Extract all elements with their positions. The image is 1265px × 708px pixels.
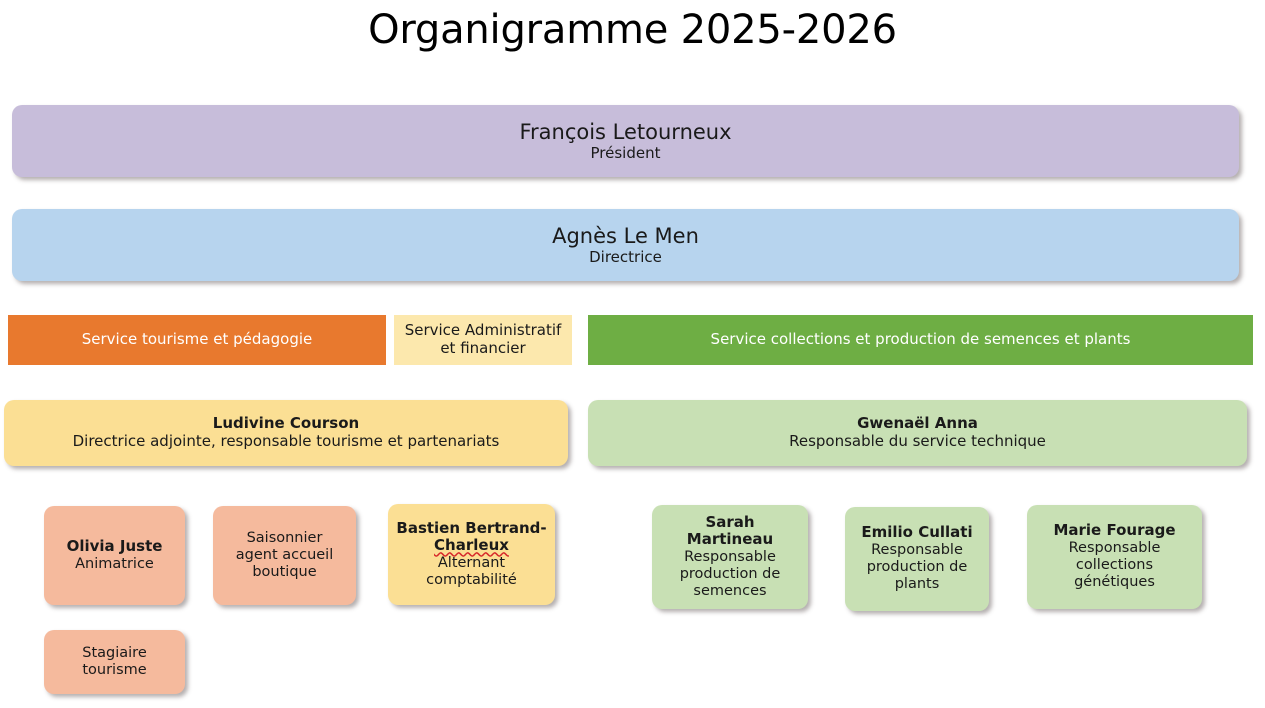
sarah-martineau-role: Responsable production de semences	[680, 549, 781, 600]
org-node-gwenael-anna[interactable]: Gwenaël Anna Responsable du service tech…	[588, 400, 1247, 466]
stagiaire-tourisme-role: Stagiaire tourisme	[82, 645, 147, 679]
org-node-marie-fourage[interactable]: Marie Fourage Responsable collections gé…	[1027, 505, 1202, 609]
marie-fourage-role: Responsable collections génétiques	[1069, 540, 1161, 591]
service-banner-collections[interactable]: Service collections et production de sem…	[588, 315, 1253, 365]
page-title: Organigramme 2025-2026	[0, 6, 1265, 54]
org-node-bastien-bertrand-charleux[interactable]: Bastien Bertrand-Charleux Alternant comp…	[388, 504, 555, 605]
bastien-name-line2: Charleux	[434, 536, 509, 554]
org-node-stagiaire-tourisme[interactable]: Stagiaire tourisme	[44, 630, 185, 694]
org-node-emilio-cullati[interactable]: Emilio Cullati Responsable production de…	[845, 507, 989, 611]
org-node-olivia-juste[interactable]: Olivia Juste Animatrice	[44, 506, 185, 605]
service-banner-tourisme-label: Service tourisme et pédagogie	[82, 331, 313, 349]
directrice-name: Agnès Le Men	[552, 224, 699, 249]
emilio-cullati-role: Responsable production de plants	[867, 542, 968, 593]
directrice-role: Directrice	[589, 249, 662, 267]
bastien-bertrand-charleux-role: Alternant comptabilité	[426, 555, 517, 589]
president-role: Président	[591, 145, 661, 163]
bastien-bertrand-charleux-name: Bastien Bertrand-Charleux	[396, 520, 547, 555]
gwenael-anna-name: Gwenaël Anna	[857, 415, 978, 433]
org-node-saisonnier-accueil[interactable]: Saisonnier agent accueil boutique	[213, 506, 356, 605]
ludivine-courson-name: Ludivine Courson	[213, 415, 359, 433]
gwenael-anna-role: Responsable du service technique	[789, 433, 1046, 451]
president-name: François Letourneux	[519, 120, 731, 145]
sarah-martineau-name: Sarah Martineau	[660, 514, 800, 549]
saisonnier-accueil-role: Saisonnier agent accueil boutique	[236, 530, 334, 581]
org-node-president[interactable]: François Letourneux Président	[12, 105, 1239, 177]
org-node-directrice[interactable]: Agnès Le Men Directrice	[12, 209, 1239, 281]
service-banner-collections-label: Service collections et production de sem…	[711, 331, 1131, 349]
service-banner-administratif[interactable]: Service Administratif et financier	[394, 315, 572, 365]
emilio-cullati-name: Emilio Cullati	[861, 524, 972, 542]
olivia-juste-name: Olivia Juste	[67, 538, 163, 556]
olivia-juste-role: Animatrice	[75, 556, 154, 573]
ludivine-courson-role: Directrice adjointe, responsable tourism…	[73, 433, 500, 451]
org-node-ludivine-courson[interactable]: Ludivine Courson Directrice adjointe, re…	[4, 400, 568, 466]
bastien-name-line1: Bastien Bertrand-	[396, 519, 546, 537]
org-node-sarah-martineau[interactable]: Sarah Martineau Responsable production d…	[652, 505, 808, 609]
service-banner-tourisme[interactable]: Service tourisme et pédagogie	[8, 315, 386, 365]
service-banner-administratif-label: Service Administratif et financier	[405, 322, 562, 357]
marie-fourage-name: Marie Fourage	[1053, 522, 1175, 540]
